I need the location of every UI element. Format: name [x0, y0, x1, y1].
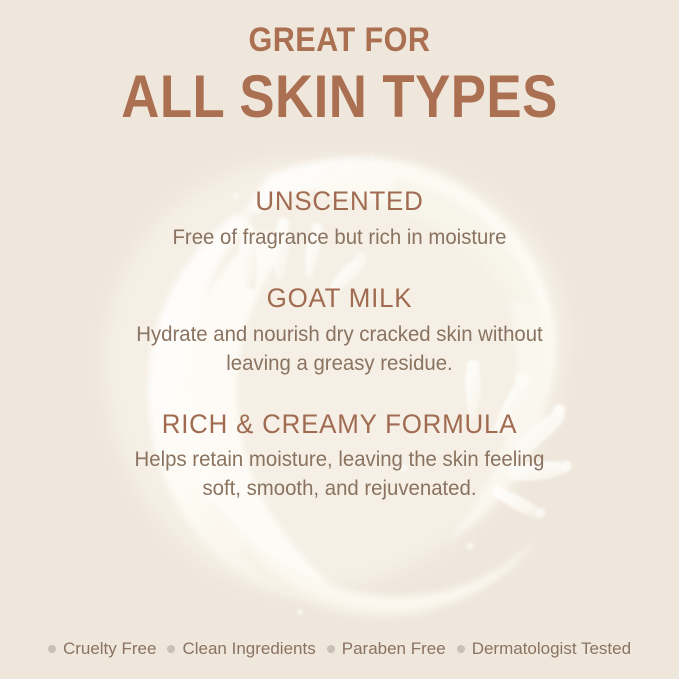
feature-title: RICH & CREAMY FORMULA — [14, 409, 666, 441]
feature-goat-milk: GOAT MILK Hydrate and nourish dry cracke… — [0, 283, 679, 379]
feature-description-line: Hydrate and nourish dry cracked skin wit… — [10, 321, 669, 350]
feature-unscented: UNSCENTED Free of fragrance but rich in … — [0, 186, 679, 253]
feature-description-line: leaving a greasy residue. — [10, 350, 669, 379]
claim-label: Cruelty Free — [63, 640, 157, 657]
claim-label: Dermatologist Tested — [472, 640, 631, 657]
feature-description: Free of fragrance but rich in moisture — [10, 224, 669, 253]
feature-list: UNSCENTED Free of fragrance but rich in … — [0, 186, 679, 532]
bullet-dot-icon — [48, 645, 56, 653]
footer-claims: Cruelty Free Clean Ingredients Paraben F… — [0, 640, 679, 657]
bullet-dot-icon — [167, 645, 175, 653]
claim-label: Clean Ingredients — [182, 640, 315, 657]
product-benefits-poster: GREAT FOR ALL SKIN TYPES UNSCENTED Free … — [0, 0, 679, 679]
claim-item: Paraben Free — [327, 640, 446, 657]
header: GREAT FOR ALL SKIN TYPES — [0, 22, 679, 130]
feature-title: UNSCENTED — [14, 186, 666, 218]
feature-description-line: soft, smooth, and rejuvenated. — [10, 475, 669, 504]
bullet-dot-icon — [457, 645, 465, 653]
feature-title: GOAT MILK — [14, 283, 666, 315]
header-headline: ALL SKIN TYPES — [41, 65, 639, 130]
claim-item: Dermatologist Tested — [457, 640, 631, 657]
feature-description-line: Free of fragrance but rich in moisture — [10, 224, 669, 253]
feature-description-line: Helps retain moisture, leaving the skin … — [10, 446, 669, 475]
feature-description: Hydrate and nourish dry cracked skin wit… — [10, 321, 669, 379]
claim-item: Cruelty Free — [48, 640, 157, 657]
feature-description: Helps retain moisture, leaving the skin … — [10, 446, 669, 504]
claim-item: Clean Ingredients — [167, 640, 315, 657]
bullet-dot-icon — [327, 645, 335, 653]
header-eyebrow: GREAT FOR — [34, 22, 645, 59]
claim-label: Paraben Free — [342, 640, 446, 657]
feature-rich-creamy-formula: RICH & CREAMY FORMULA Helps retain moist… — [0, 409, 679, 505]
